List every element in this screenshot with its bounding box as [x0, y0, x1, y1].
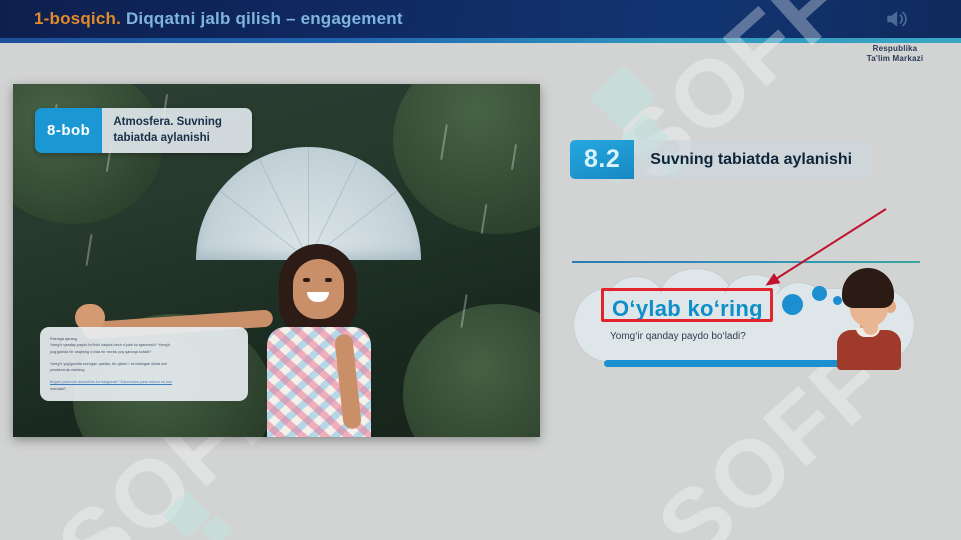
rain-streak: [86, 234, 93, 266]
chapter-number: 8-bob: [35, 108, 102, 153]
highlight-box: [601, 288, 773, 322]
note-line: yondaverda ularlang.: [50, 367, 238, 373]
umbrella-canopy: [196, 147, 421, 260]
app-header: 1-bosqich. Diqqatni jalb qilish – engage…: [0, 0, 961, 38]
note-line: mordala?: [50, 386, 238, 392]
foliage-blob: [403, 304, 540, 437]
girl-eye: [303, 278, 310, 282]
header-step-label: 1-bosqich.: [34, 9, 121, 28]
girl-eye: [325, 278, 332, 282]
header-title-text: Diqqatni jalb qilish – engagement: [126, 9, 403, 28]
girl-face: [293, 259, 344, 319]
foliage-blob: [13, 84, 163, 224]
section-badge: 8.2 Suvning tabiatda aylanishi: [570, 140, 870, 179]
boy-hair: [842, 268, 894, 308]
section-number: 8.2: [570, 140, 634, 179]
section-divider: [572, 261, 920, 263]
chapter-title: Atmosfera. Suvning tabiatda aylanishi: [102, 108, 252, 153]
slide-note-panel: Rasmga qarang. Yomg'ir qanday paydo bo'l…: [40, 327, 248, 401]
section-title: Suvning tabiatda aylanishi: [634, 140, 870, 179]
header-accent-strip: [0, 38, 961, 43]
think-question: Yomg‘ir qanday paydo bo‘ladi?: [610, 331, 746, 342]
logo-line-2: Ta'lim Markazi: [843, 54, 947, 64]
organization-logo: Respublika Ta'lim Markazi: [843, 44, 947, 64]
decorative-dot: [782, 294, 803, 315]
page-title: 1-bosqich. Diqqatni jalb qilish – engage…: [34, 9, 403, 29]
logo-line-1: Respublika: [843, 44, 947, 54]
chapter-badge: 8-bob Atmosfera. Suvning tabiatda aylani…: [35, 108, 252, 153]
note-line: yog'ganida bir vaqtning o'zida bir necha…: [50, 349, 238, 355]
boy-illustration: [820, 268, 916, 370]
foliage-blob: [393, 84, 540, 234]
lesson-slide-photo[interactable]: 8-bob Atmosfera. Suvning tabiatda aylani…: [13, 84, 540, 437]
speaker-icon[interactable]: [883, 6, 909, 32]
